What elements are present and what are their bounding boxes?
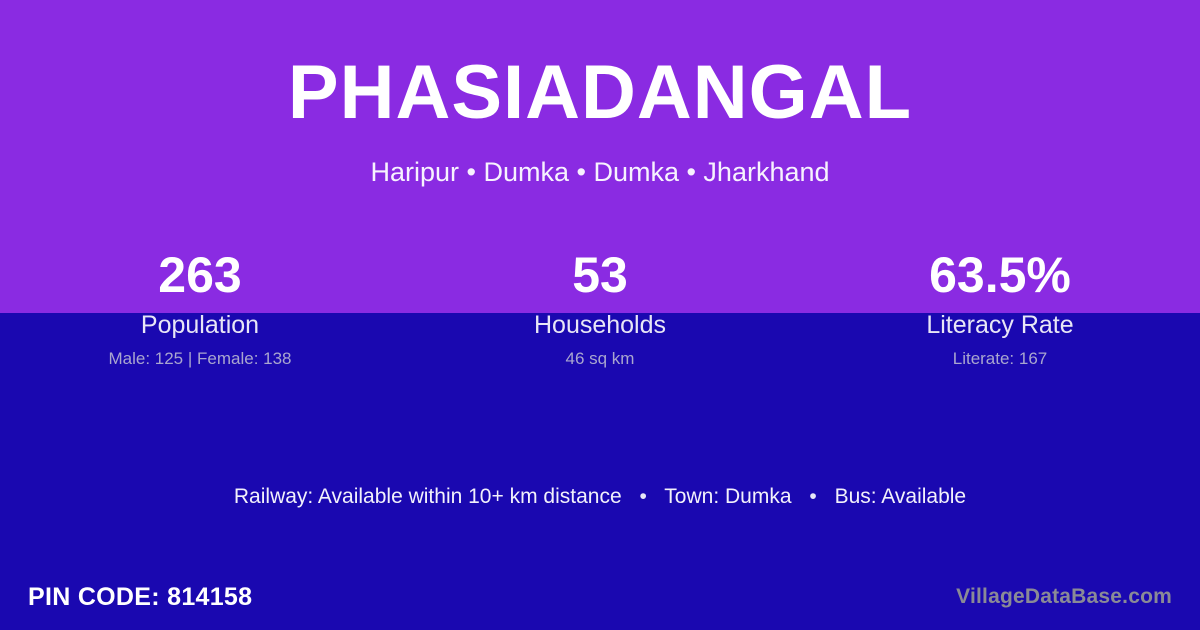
facility-separator-2: • [797,484,828,509]
facility-separator-1: • [627,484,658,509]
stat-sub-population: Male: 125 | Female: 138 [108,350,291,369]
stat-label-literacy-rate: Literacy Rate [926,312,1073,340]
facility-bus: Bus: Available [835,485,967,508]
stat-label-households: Households [534,312,666,340]
brand-watermark: VillageDataBase.com [956,585,1172,609]
facilities-line: Railway: Available within 10+ km distanc… [0,484,1200,509]
breadcrumb: Haripur • Dumka • Dumka • Jharkhand [370,159,829,186]
stat-households: 53 Households 46 sq km [400,240,800,380]
stat-sub-households: 46 sq km [566,350,635,369]
village-info-card: PHASIADANGAL Haripur • Dumka • Dumka • J… [0,0,1200,630]
stats-row: 263 Population Male: 125 | Female: 138 5… [0,240,1200,380]
facility-railway: Railway: Available within 10+ km distanc… [234,485,622,508]
pin-code: PIN CODE: 814158 [28,583,252,612]
stat-value-population: 263 [158,240,241,310]
card-header: PHASIADANGAL Haripur • Dumka • Dumka • J… [0,0,1200,240]
stat-population: 263 Population Male: 125 | Female: 138 [0,240,400,380]
page-title: PHASIADANGAL [288,55,912,131]
stat-literacy-rate: 63.5% Literacy Rate Literate: 167 [800,240,1200,380]
stat-sub-literacy-rate: Literate: 167 [953,350,1048,369]
card-footer: PIN CODE: 814158 VillageDataBase.com [0,564,1200,630]
stat-value-households: 53 [572,240,628,310]
stat-label-population: Population [141,312,259,340]
stat-value-literacy-rate: 63.5% [929,240,1071,310]
facility-town: Town: Dumka [664,485,791,508]
